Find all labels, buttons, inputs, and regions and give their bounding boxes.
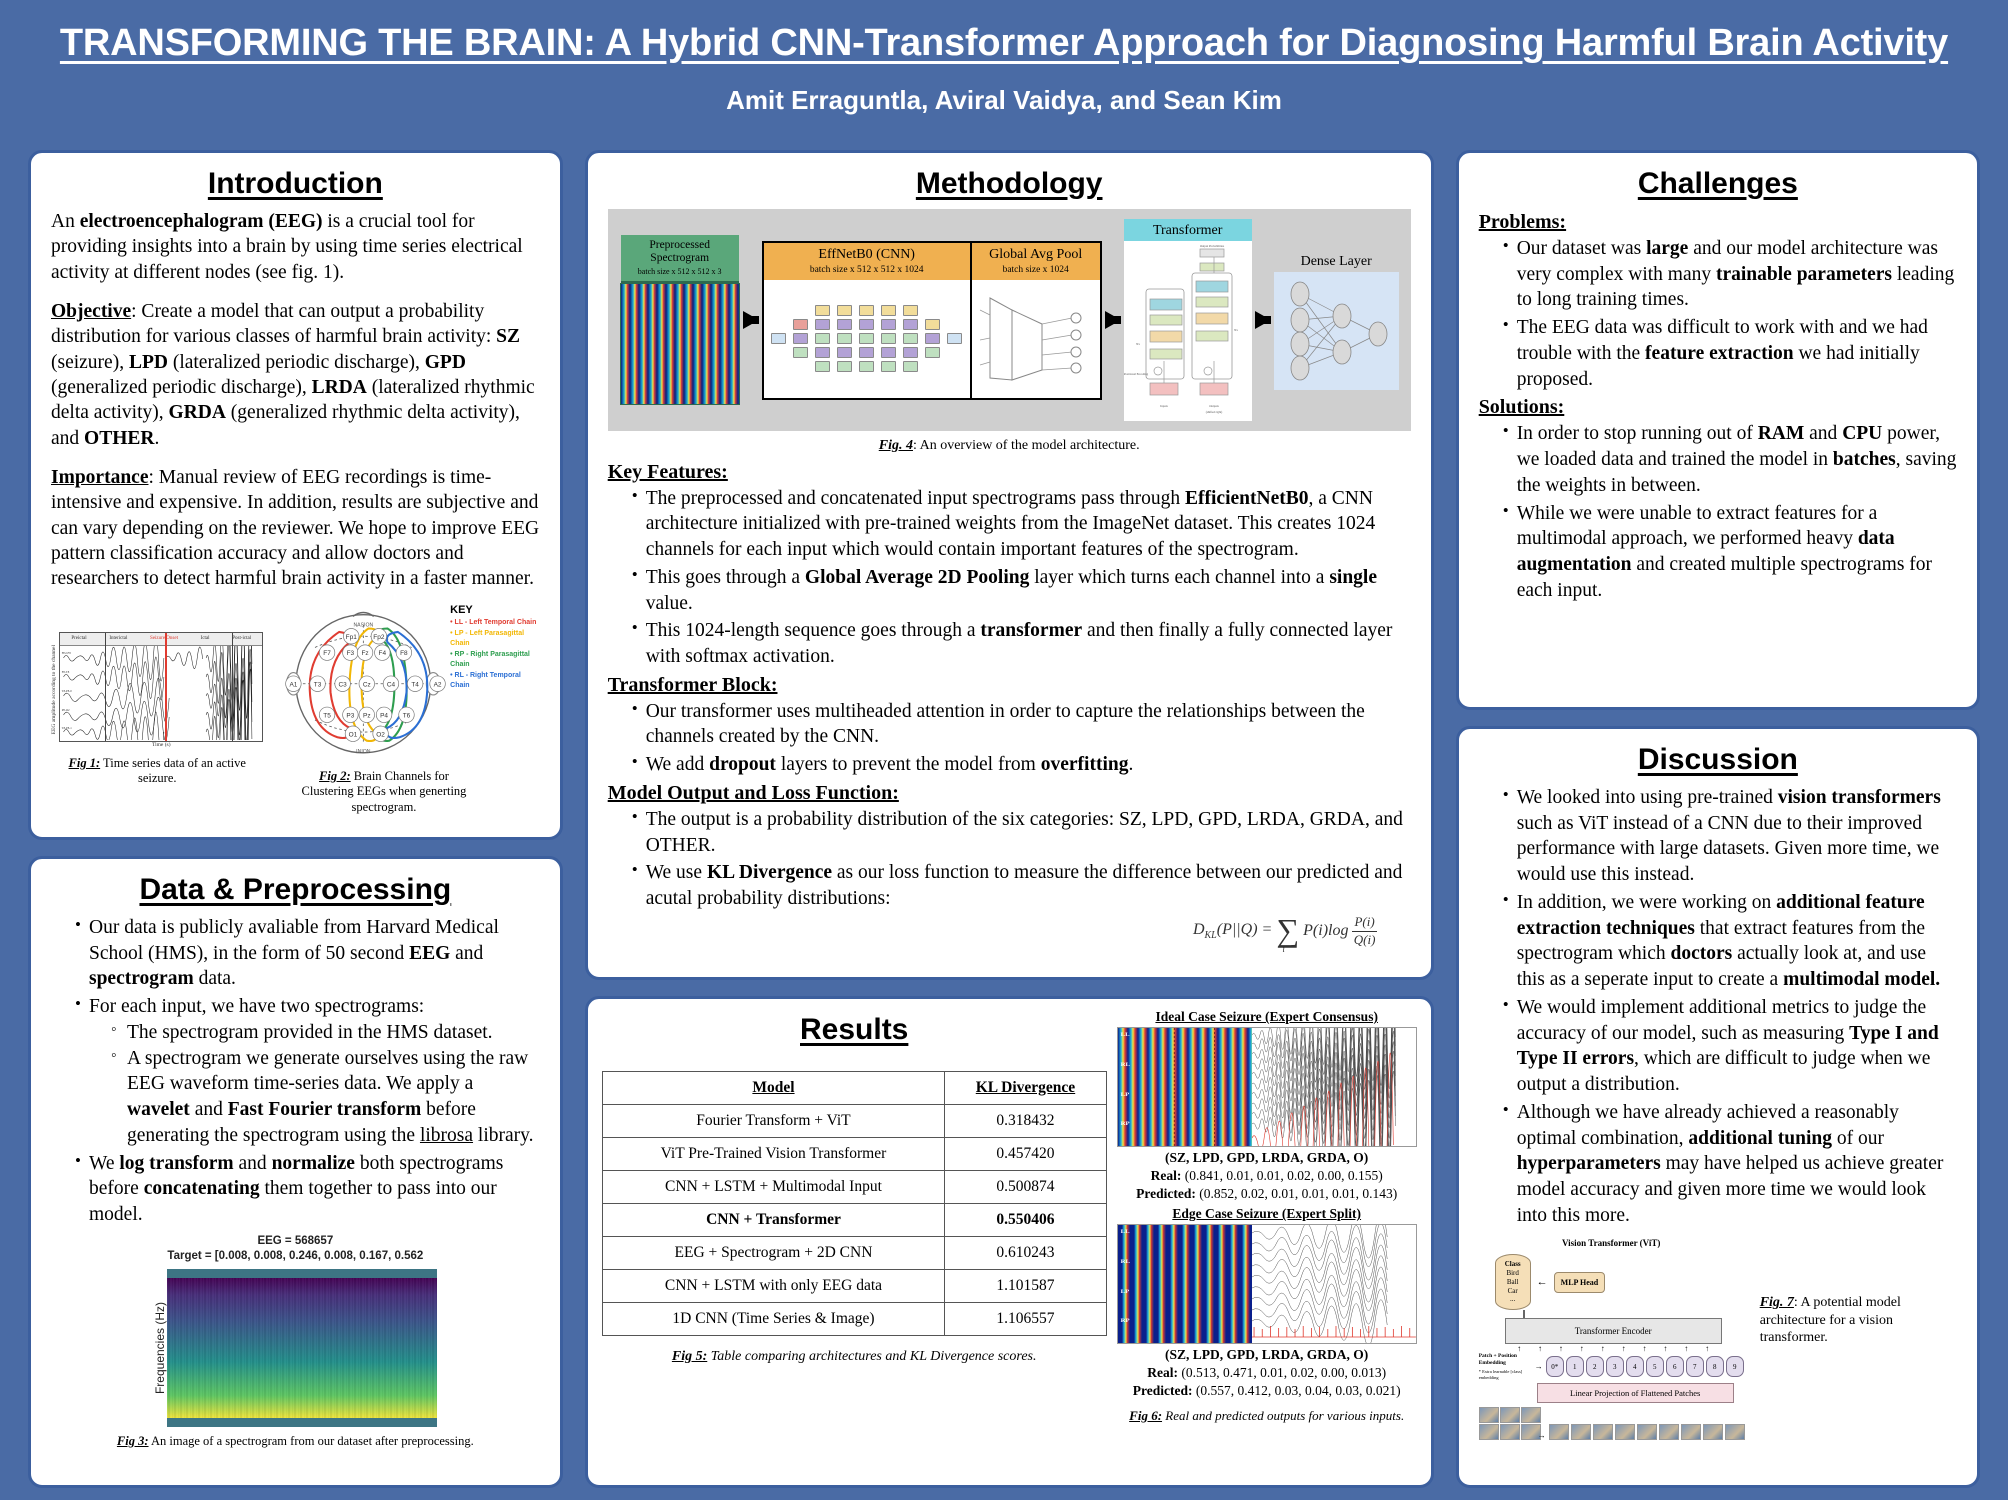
list-item: We would implement additional metrics to… xyxy=(1503,995,1957,1098)
svg-text:C3: C3 xyxy=(339,681,348,688)
pooling-thumb xyxy=(972,280,1100,398)
solutions-list: In order to stop running out of RAM and … xyxy=(1479,421,1957,603)
table-row: Fourier Transform + ViT0.318432 xyxy=(602,1105,1106,1138)
case-2-image: LLRLLPRP xyxy=(1117,1224,1417,1344)
arch-block-transformer: Transformer xyxy=(1124,219,1252,421)
svg-text:Inputs: Inputs xyxy=(1160,404,1168,408)
case-1-real: Real: (0.841, 0.01, 0.01, 0.02, 0.00, 0.… xyxy=(1117,1167,1417,1185)
fig2-caption: Fig 2: Brain Channels for Clustering EEG… xyxy=(291,769,476,816)
fig3-target: Target = [0.008, 0.008, 0.246, 0.008, 0.… xyxy=(51,1249,540,1264)
challenges-body: Problems: Our dataset was large and our … xyxy=(1479,209,1957,604)
svg-text:A2: A2 xyxy=(434,681,442,688)
class-sz: SZ xyxy=(496,326,520,347)
table-row-highlighted: CNN + Transformer0.550406 xyxy=(602,1204,1106,1237)
fig3-eeg-id: EEG = 568657 xyxy=(51,1234,540,1249)
arrow-icon xyxy=(1255,311,1271,329)
section-data-preprocessing: Data & Preprocessing Our data is publicl… xyxy=(28,856,563,1488)
list-item: While we were unable to extract features… xyxy=(1503,501,1957,604)
svg-text:Fp2: Fp2 xyxy=(374,634,386,641)
svg-text:Output Probabilities: Output Probabilities xyxy=(1200,244,1225,248)
list-item: This goes through a Global Average 2D Po… xyxy=(632,565,1411,616)
class-gpd: GPD xyxy=(425,352,466,373)
class-grda: GRDA xyxy=(169,402,226,423)
intro-paragraph-1: An electroencephalogram (EEG) is a cruci… xyxy=(51,209,540,285)
fig1-channel-0: FP2-F8 xyxy=(62,651,71,655)
arch-sub-0: batch size x 512 x 512 x 3 xyxy=(621,267,739,281)
svg-text:NASION: NASION xyxy=(354,623,374,629)
case-1-values: (SZ, LPD, GPD, LRDA, GRDA, O) Real: (0.8… xyxy=(1117,1149,1417,1202)
figure-7: Vision Transformer (ViT) Class Bird Ball… xyxy=(1479,1238,1957,1440)
svg-text:F8: F8 xyxy=(401,650,409,657)
svg-text:Fp1: Fp1 xyxy=(346,634,358,641)
svg-text:T3: T3 xyxy=(314,681,322,688)
svg-text:RL: RL xyxy=(1120,1260,1129,1265)
figure-1: EEG amplitude according to the channel P… xyxy=(51,632,263,787)
arch-block-gap: Global Avg Pool batch size x 1024 xyxy=(972,241,1102,400)
class-lpd: LPD xyxy=(129,352,168,373)
section-methodology: Methodology Preprocessed Spectrogram bat… xyxy=(585,150,1434,980)
transformer-thumb: Output Probabilities Inputs Outputs (shi… xyxy=(1124,241,1252,421)
introduction-body: An electroencephalogram (EEG) is a cruci… xyxy=(51,209,540,592)
poster-header: TRANSFORMING THE BRAIN: A Hybrid CNN-Tra… xyxy=(0,0,2008,116)
case-2-predicted: Predicted: (0.557, 0.412, 0.03, 0.04, 0.… xyxy=(1117,1382,1417,1400)
list-item: We looked into using pre-trained vision … xyxy=(1503,785,1957,888)
discussion-list: We looked into using pre-trained vision … xyxy=(1479,785,1957,1228)
data-preprocessing-bullets: Our data is publicly avaliable from Harv… xyxy=(51,915,540,1228)
brain-map-key: KEY • LL - Left Temporal Chain • LP - Le… xyxy=(450,602,540,692)
class-other: OTHER xyxy=(84,428,154,449)
fig3-ylabel: Frequencies (Hz) xyxy=(153,1302,167,1394)
list-item: We add dropout layers to prevent the mod… xyxy=(632,752,1411,778)
fig1-channel-3: P8-O2 xyxy=(62,708,70,712)
list-item: The output is a probability distribution… xyxy=(632,807,1411,858)
class-lrda: LRDA xyxy=(312,377,367,398)
list-item: In order to stop running out of RAM and … xyxy=(1503,421,1957,498)
left-column: Introduction An electroencephalogram (EE… xyxy=(28,150,563,1488)
list-item: For each input, we have two spectrograms… xyxy=(75,994,540,1148)
figure-6: Ideal Case Seizure (Expert Consensus) LL… xyxy=(1117,1009,1417,1471)
right-column: Challenges Problems: Our dataset was lar… xyxy=(1456,150,1980,1488)
case-2-real: Real: (0.513, 0.471, 0.01, 0.02, 0.00, 0… xyxy=(1117,1364,1417,1382)
fig1-channel-2: T8-P8-0 xyxy=(62,689,72,693)
problems-list: Our dataset was large and our model arch… xyxy=(1479,236,1957,392)
fig5-caption: Fig 5: Table comparing architectures and… xyxy=(602,1348,1107,1366)
dense-layer-thumb xyxy=(1274,272,1399,390)
results-table: Model KL Divergence Fourier Transform + … xyxy=(602,1071,1107,1336)
list-item: We log transform and normalize both spec… xyxy=(75,1151,540,1228)
arrow-icon xyxy=(743,311,759,329)
results-table-body: Fourier Transform + ViT0.318432 ViT Pre-… xyxy=(602,1105,1106,1336)
fig3-caption: Fig 3: An image of a spectrogram from ou… xyxy=(51,1434,540,1450)
case-2-waveform xyxy=(1252,1225,1416,1343)
section-challenges: Challenges Problems: Our dataset was lar… xyxy=(1456,150,1980,710)
list-item: In addition, we were working on addition… xyxy=(1503,890,1957,993)
results-title: Results xyxy=(602,1013,1107,1047)
solutions-head: Solutions: xyxy=(1479,394,1957,420)
svg-text:Fz: Fz xyxy=(362,650,369,657)
methodology-body: Key Features: The preprocessed and conca… xyxy=(608,459,1411,949)
key-item-lp: • LP - Left Parasagittal Chain xyxy=(450,629,540,650)
list-item: Our transformer uses multiheaded attenti… xyxy=(632,699,1411,750)
case-2-values: (SZ, LPD, GPD, LRDA, GRDA, O) Real: (0.5… xyxy=(1117,1346,1417,1399)
svg-text:Outputs: Outputs xyxy=(1209,404,1219,408)
case-2-title: Edge Case Seizure (Expert Split) xyxy=(1117,1206,1417,1222)
eeg-term: electroencephalogram (EEG) xyxy=(80,211,323,232)
poster-columns: Introduction An electroencephalogram (EE… xyxy=(0,150,2008,1500)
vit-tokens: 0* 1 2 3 4 5 6 7 8 9 xyxy=(1546,1356,1744,1377)
svg-text:RL: RL xyxy=(1120,1063,1129,1068)
section-results: Results Model KL Divergence Fourier Tran… xyxy=(585,996,1434,1488)
key-item-rp: • RP - Right Parasagittal Chain xyxy=(450,650,540,671)
svg-text:INION: INION xyxy=(357,749,372,755)
data-preprocessing-title: Data & Preprocessing xyxy=(51,873,540,907)
table-row: EEG + Spectrogram + 2D CNN0.610243 xyxy=(602,1237,1106,1270)
svg-text:O2: O2 xyxy=(377,731,386,738)
arch-spectrogram-thumb xyxy=(620,283,740,405)
table-row: CNN + LSTM with only EEG data1.101587 xyxy=(602,1270,1106,1303)
vit-source-image xyxy=(1479,1407,1535,1440)
fig4-caption: Fig. 4: An overview of the model archite… xyxy=(608,437,1411,455)
svg-text:P3: P3 xyxy=(347,712,355,719)
case-1-predicted: Predicted: (0.852, 0.02, 0.01, 0.01, 0.0… xyxy=(1117,1185,1417,1203)
transformer-block-head: Transformer Block: xyxy=(608,672,1411,698)
figure-3: EEG = 568657 Target = [0.008, 0.008, 0.2… xyxy=(51,1234,540,1450)
svg-text:F4: F4 xyxy=(379,650,387,657)
svg-text:LL: LL xyxy=(1120,1230,1129,1235)
key-item-ll: • LL - Left Temporal Chain xyxy=(450,618,540,629)
table-row: ViT Pre-Trained Vision Transformer0.4574… xyxy=(602,1138,1106,1171)
figure-2: Fp1Fp2 F7F3FzF4F8 A1T3C3CzC4T4A2 T5P3PzP… xyxy=(277,598,539,816)
arrow-left-icon: ← xyxy=(1537,1276,1548,1288)
arch-label-4: Dense Layer xyxy=(1274,250,1399,272)
case-1-title: Ideal Case Seizure (Expert Consensus) xyxy=(1117,1009,1417,1025)
objective-label: Objective xyxy=(51,301,131,322)
case-1-spectrogram: LLRLLPRP xyxy=(1118,1028,1252,1146)
arch-sub-2: batch size x 1024 xyxy=(972,265,1100,280)
arrow-icon xyxy=(1105,311,1121,329)
svg-text:A1: A1 xyxy=(290,681,298,688)
arch-label-1: EffNetB0 (CNN) xyxy=(764,243,970,265)
list-item: This 1024-length sequence goes through a… xyxy=(632,618,1411,669)
section-discussion: Discussion We looked into using pre-trai… xyxy=(1456,726,1980,1488)
list-item: A spectrogram we generate ourselves usin… xyxy=(111,1046,540,1149)
svg-text:Cz: Cz xyxy=(363,681,371,688)
svg-text:LL: LL xyxy=(1120,1033,1129,1038)
svg-text:LP: LP xyxy=(1120,1290,1129,1295)
list-item: Our dataset was large and our model arch… xyxy=(1503,236,1957,313)
section-introduction: Introduction An electroencephalogram (EE… xyxy=(28,150,563,840)
svg-text:Nx: Nx xyxy=(1234,328,1238,332)
col-kl: KL Divergence xyxy=(945,1072,1106,1105)
arch-block-effnet: EffNetB0 (CNN) batch size x 512 x 512 x … xyxy=(762,241,972,400)
svg-text:(shifted right): (shifted right) xyxy=(1205,410,1222,414)
vit-projection: Linear Projection of Flattened Patches xyxy=(1537,1383,1734,1403)
fig1-channel-1: F8-T8 xyxy=(62,670,70,674)
fig1-xlabel: Time (s) xyxy=(59,742,263,748)
case-1-waveform xyxy=(1252,1028,1416,1146)
vit-mlp-head: MLP Head xyxy=(1554,1272,1606,1294)
vit-encoder: Transformer Encoder xyxy=(1505,1318,1722,1344)
author-list: Amit Erraguntla, Aviral Vaidya, and Sean… xyxy=(0,85,2008,116)
svg-text:F7: F7 xyxy=(324,650,332,657)
architecture-diagram: Preprocessed Spectrogram batch size x 51… xyxy=(608,209,1411,431)
table-row: 1D CNN (Time Series & Image)1.106557 xyxy=(602,1303,1106,1336)
fig1-ylabel: EEG amplitude according to the channel xyxy=(51,645,57,734)
fig7-caption: Fig. 7: A potential model architecture f… xyxy=(1760,1294,1950,1347)
vit-diagram: Vision Transformer (ViT) Class Bird Ball… xyxy=(1479,1238,1744,1440)
problems-head: Problems: xyxy=(1479,209,1957,235)
key-features-head: Key Features: xyxy=(608,459,1411,485)
case-2-spectrogram: LLRLLPRP xyxy=(1118,1225,1252,1343)
vit-title: Vision Transformer (ViT) xyxy=(1479,1238,1744,1248)
summation-icon: ∑i xyxy=(1276,918,1299,944)
table-header-row: Model KL Divergence xyxy=(602,1072,1106,1105)
discussion-title: Discussion xyxy=(1479,743,1957,777)
importance-label: Importance xyxy=(51,467,148,488)
key-title: KEY xyxy=(450,602,540,619)
fig1-plot: Preictal Interictal Seizure Onset Ictal … xyxy=(59,632,263,742)
table-row: CNN + LSTM + Multimodal Input0.500874 xyxy=(602,1171,1106,1204)
kl-divergence-formula: DKL(P||Q) = ∑i P(i)log P(i) Q(i) xyxy=(608,914,1411,949)
list-item: The preprocessed and concatenated input … xyxy=(632,486,1411,563)
intro-objective: Objective: Create a model that can outpu… xyxy=(51,299,540,451)
case-1-classes: (SZ, LPD, GPD, LRDA, GRDA, O) xyxy=(1117,1149,1417,1167)
svg-text:RP: RP xyxy=(1120,1319,1129,1324)
svg-text:RP: RP xyxy=(1120,1122,1129,1127)
intro-p1-pre: An xyxy=(51,211,80,232)
col-model: Model xyxy=(602,1072,945,1105)
vit-patch-embed-label: Patch + Position Embedding * Extra learn… xyxy=(1479,1353,1532,1380)
svg-text:Positional Encoding: Positional Encoding xyxy=(1124,372,1149,376)
fig6-caption: Fig 6: Real and predicted outputs for va… xyxy=(1117,1408,1417,1424)
cnn-thumb xyxy=(764,280,970,398)
page-title: TRANSFORMING THE BRAIN: A Hybrid CNN-Tra… xyxy=(0,22,2008,65)
svg-text:T5: T5 xyxy=(324,712,332,719)
svg-text:P4: P4 xyxy=(381,712,389,719)
list-item: Our data is publicly avaliable from Harv… xyxy=(75,915,540,992)
fig3-spectrogram xyxy=(167,1269,437,1427)
svg-text:Pz: Pz xyxy=(363,712,371,719)
svg-text:O1: O1 xyxy=(349,731,358,738)
fig1-channel-4: T8-P8-1 xyxy=(62,726,72,730)
svg-text:F3: F3 xyxy=(347,650,355,657)
model-output-head: Model Output and Loss Function: xyxy=(608,780,1411,806)
intro-importance: Importance: Manual review of EEG recordi… xyxy=(51,465,540,592)
case-2-classes: (SZ, LPD, GPD, LRDA, GRDA, O) xyxy=(1117,1346,1417,1364)
middle-column: Methodology Preprocessed Spectrogram bat… xyxy=(585,150,1434,1488)
vit-patches xyxy=(1549,1424,1745,1440)
svg-text:LP: LP xyxy=(1120,1093,1129,1098)
arch-label-0: Preprocessed Spectrogram xyxy=(621,235,739,267)
svg-text:Nx: Nx xyxy=(1136,342,1140,346)
case-1-image: LLRLLPRP xyxy=(1117,1027,1417,1147)
introduction-title: Introduction xyxy=(51,167,540,201)
arch-label-2: Global Avg Pool xyxy=(972,243,1100,265)
list-item: The EEG data was difficult to work with … xyxy=(1503,315,1957,392)
model-output-list: The output is a probability distribution… xyxy=(608,807,1411,912)
methodology-title: Methodology xyxy=(608,167,1411,201)
list-item: We use KL Divergence as our loss functio… xyxy=(632,860,1411,911)
arch-block-dense: Dense Layer xyxy=(1274,250,1399,390)
key-features-list: The preprocessed and concatenated input … xyxy=(608,486,1411,670)
svg-text:C4: C4 xyxy=(387,681,396,688)
key-item-rl: • RL - Right Temporal Chain xyxy=(450,671,540,692)
arch-block-spectrogram: Preprocessed Spectrogram batch size x 51… xyxy=(620,235,740,405)
arch-label-3: Transformer xyxy=(1124,219,1252,241)
challenges-title: Challenges xyxy=(1479,167,1957,201)
vit-class-box: Class Bird Ball Car ... xyxy=(1495,1254,1531,1310)
brain-channel-map: Fp1Fp2 F7F3FzF4F8 A1T3C3CzC4T4A2 T5P3PzP… xyxy=(277,598,450,766)
arch-sub-1: batch size x 512 x 512 x 1024 xyxy=(764,265,970,280)
svg-text:T6: T6 xyxy=(403,712,411,719)
fig1-caption: Fig 1: Time series data of an active sei… xyxy=(51,756,263,787)
list-item: The spectrogram provided in the HMS data… xyxy=(111,1020,540,1046)
transformer-block-list: Our transformer uses multiheaded attenti… xyxy=(608,699,1411,778)
list-item: Although we have already achieved a reas… xyxy=(1503,1100,1957,1229)
svg-text:T4: T4 xyxy=(412,681,420,688)
